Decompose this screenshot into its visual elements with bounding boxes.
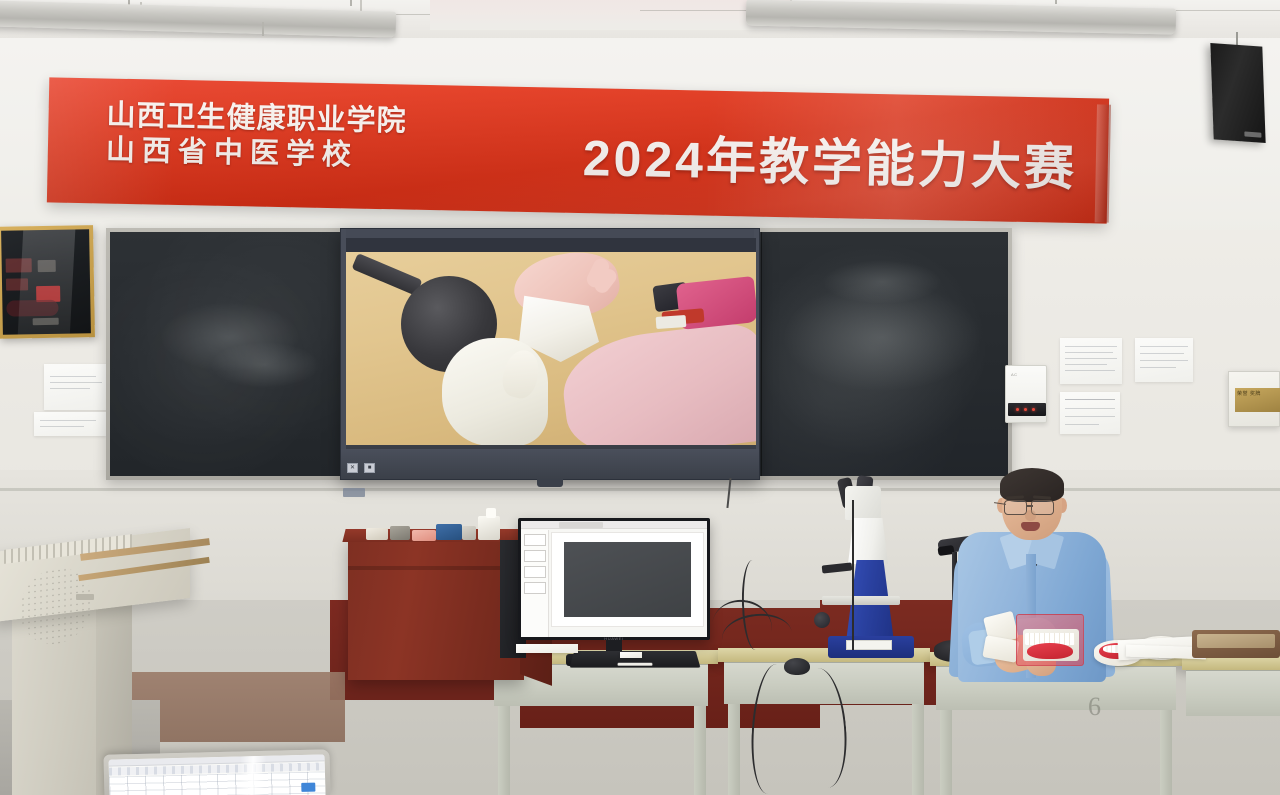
paper-text-line [1065, 370, 1115, 371]
desk-apron [1186, 670, 1280, 716]
paper-text-line [1065, 358, 1117, 359]
banner-fold-edge [1095, 104, 1111, 222]
chalk-smudge [822, 260, 942, 304]
microscope-cable [852, 500, 854, 650]
microscope-stage [822, 596, 900, 605]
desk-leg [728, 704, 740, 795]
paper-text-line [40, 420, 96, 421]
framed-wall-poster [0, 225, 95, 339]
microscope-body [848, 518, 888, 564]
spreadsheet-selected-cell[interactable] [301, 783, 315, 792]
instrument-tray-liner [1197, 634, 1275, 648]
wall-speaker [1210, 43, 1265, 143]
microscope-focus-knob[interactable] [814, 612, 830, 628]
floor-tile [130, 672, 345, 742]
video-tool-white [656, 315, 687, 329]
mouse[interactable] [784, 658, 810, 675]
eyeglasses-bridge [1026, 505, 1033, 507]
podium-edge-ridge [348, 566, 524, 570]
papers-on-desk [516, 644, 578, 653]
podium-item-box [486, 508, 496, 518]
laptop-screen[interactable] [109, 754, 326, 795]
control-box-label: AC [1011, 372, 1018, 377]
display-osd-buttons[interactable]: ✕ ■ [347, 463, 375, 473]
paper-text-line [40, 426, 84, 427]
app-tab[interactable] [559, 522, 603, 528]
display-screen[interactable] [346, 238, 756, 451]
paper-text-line [1065, 346, 1117, 347]
blackboard-panel-left [110, 232, 346, 476]
chalk-smudge [210, 342, 320, 388]
banner-institution-line-2: 山西省中医学校 [106, 133, 407, 175]
papers-on-desk [620, 652, 642, 658]
slide-video-area [564, 542, 691, 617]
status-led [1016, 408, 1019, 411]
microscope-head [845, 486, 881, 520]
presentation-podium [348, 538, 524, 680]
desk-leg [1160, 710, 1172, 795]
laptop-screen-glare [238, 754, 267, 795]
classroom-photo-scene: 山西卫生健康职业学院 山西省中医学校 2024年教学能力大赛 [0, 0, 1280, 795]
instructor-mouth [1021, 522, 1040, 531]
display-corner-logo [343, 488, 365, 497]
slide-thumbnail[interactable] [524, 550, 546, 562]
desk-leg [912, 704, 924, 795]
display-stand-nub [537, 479, 563, 487]
app-titlebar [521, 521, 707, 529]
status-led [1024, 408, 1027, 411]
speaker-badge [1244, 131, 1261, 137]
display-osd-stop-icon[interactable]: ■ [364, 463, 375, 473]
instrument-tray [1192, 630, 1280, 658]
paper-text-line [1065, 364, 1107, 365]
light-stem [262, 22, 264, 36]
control-box-panel [1008, 403, 1046, 416]
paper-text-line [50, 376, 96, 377]
display-osd-close-icon[interactable]: ✕ [347, 463, 358, 473]
podium-item-box [478, 516, 500, 540]
paper-text-line [1140, 353, 1184, 354]
wall-paper-notice [34, 412, 106, 436]
banner-institution-block: 山西卫生健康职业学院 山西省中医学校 [106, 99, 407, 175]
blackboard-panel-right [762, 232, 1008, 476]
paper-text-line [1065, 399, 1115, 400]
podium-item-box [390, 526, 410, 540]
eyeglasses-lens-left [1004, 500, 1027, 515]
paper-text-line [1140, 360, 1188, 361]
wall-paper-notice [44, 364, 110, 410]
slide-canvas[interactable] [551, 532, 704, 627]
event-banner: 山西卫生健康职业学院 山西省中医学校 2024年教学能力大赛 [47, 77, 1109, 223]
paper-text-line [50, 382, 102, 383]
paper-text-line [1140, 346, 1188, 347]
slide-thumbnail[interactable] [524, 566, 546, 578]
desk-number-label: 6 [1088, 692, 1101, 722]
wall-paper-schedule [1135, 338, 1193, 382]
desk-leg [940, 710, 952, 795]
laptop[interactable] [103, 749, 330, 795]
paper-text-line [1140, 367, 1176, 368]
display-bezel-top [341, 229, 759, 238]
display-bezel-bottom [341, 449, 759, 479]
podium-item-box [436, 524, 462, 540]
status-led [1032, 408, 1035, 411]
plaque-engraved-plate: 荣誉 奖牌 [1235, 388, 1280, 412]
light-stem [350, 0, 352, 6]
framed-wall-poster-art [1, 229, 91, 335]
poster-glass-glare [17, 229, 76, 335]
paper-text-line [1065, 352, 1113, 353]
wall-honor-plaque: 荣誉 奖牌 [1228, 371, 1280, 427]
desk-leg [694, 706, 706, 795]
podium-item-box [366, 528, 388, 540]
keyboard-spacebar[interactable] [617, 663, 652, 666]
paper-text-line [1065, 416, 1115, 417]
dental-model-holder [1016, 614, 1084, 666]
banner-event-title: 2024年教学能力大赛 [582, 118, 1078, 200]
slide-panel[interactable] [521, 530, 549, 637]
podium-item-box [462, 526, 476, 540]
paper-text-line [1065, 424, 1099, 425]
interactive-display-panel[interactable]: ✕ ■ [340, 228, 760, 480]
slide-thumbnail[interactable] [524, 534, 546, 546]
podium-item-box [412, 530, 436, 541]
desk-leg [498, 706, 510, 795]
plaque-text: 荣誉 奖牌 [1235, 388, 1280, 401]
light-stem [1055, 0, 1057, 4]
monitor-screen[interactable] [521, 521, 707, 637]
ceiling-tint-patch [430, 0, 790, 30]
wall-paper-table [1060, 392, 1120, 434]
wall-paper-schedule [1060, 338, 1122, 384]
wall-control-box[interactable]: AC [1005, 365, 1047, 423]
paper-text-line [1065, 408, 1115, 409]
desktop-monitor[interactable]: HUAWEI [518, 518, 710, 640]
video-letterbox-top [346, 238, 756, 252]
paper-text-line [50, 388, 90, 389]
slide-thumbnail[interactable] [524, 582, 546, 594]
dental-gum-arch [1027, 643, 1073, 659]
instructor-nose [1025, 510, 1036, 521]
lectern-card-slot[interactable] [76, 594, 94, 600]
spreadsheet-grid[interactable] [109, 771, 326, 795]
